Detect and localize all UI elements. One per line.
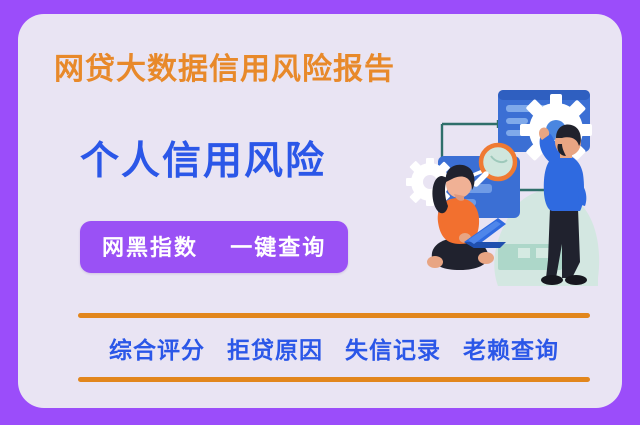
- data-analysis-illustration: [402, 72, 622, 300]
- feature-tag-laolai[interactable]: 老赖查询: [463, 331, 559, 365]
- promo-banner: 网贷大数据信用风险报告 个人信用风险 网黑指数 一键查询 综合评分 拒贷原因 失…: [0, 0, 640, 425]
- feature-tag-record[interactable]: 失信记录: [345, 331, 441, 365]
- query-cta-button[interactable]: 网黑指数 一键查询: [80, 221, 348, 273]
- feature-tag-score[interactable]: 综合评分: [109, 331, 205, 365]
- cta-right-label: 一键查询: [230, 235, 326, 260]
- cta-left-label: 网黑指数: [102, 235, 198, 260]
- banner-panel: 网贷大数据信用风险报告 个人信用风险 网黑指数 一键查询 综合评分 拒贷原因 失…: [18, 14, 622, 408]
- feature-tag-list: 综合评分 拒贷原因 失信记录 老赖查询: [78, 331, 590, 365]
- divider-top: [78, 313, 590, 318]
- divider-bottom: [78, 377, 590, 382]
- feature-tag-reason[interactable]: 拒贷原因: [227, 331, 323, 365]
